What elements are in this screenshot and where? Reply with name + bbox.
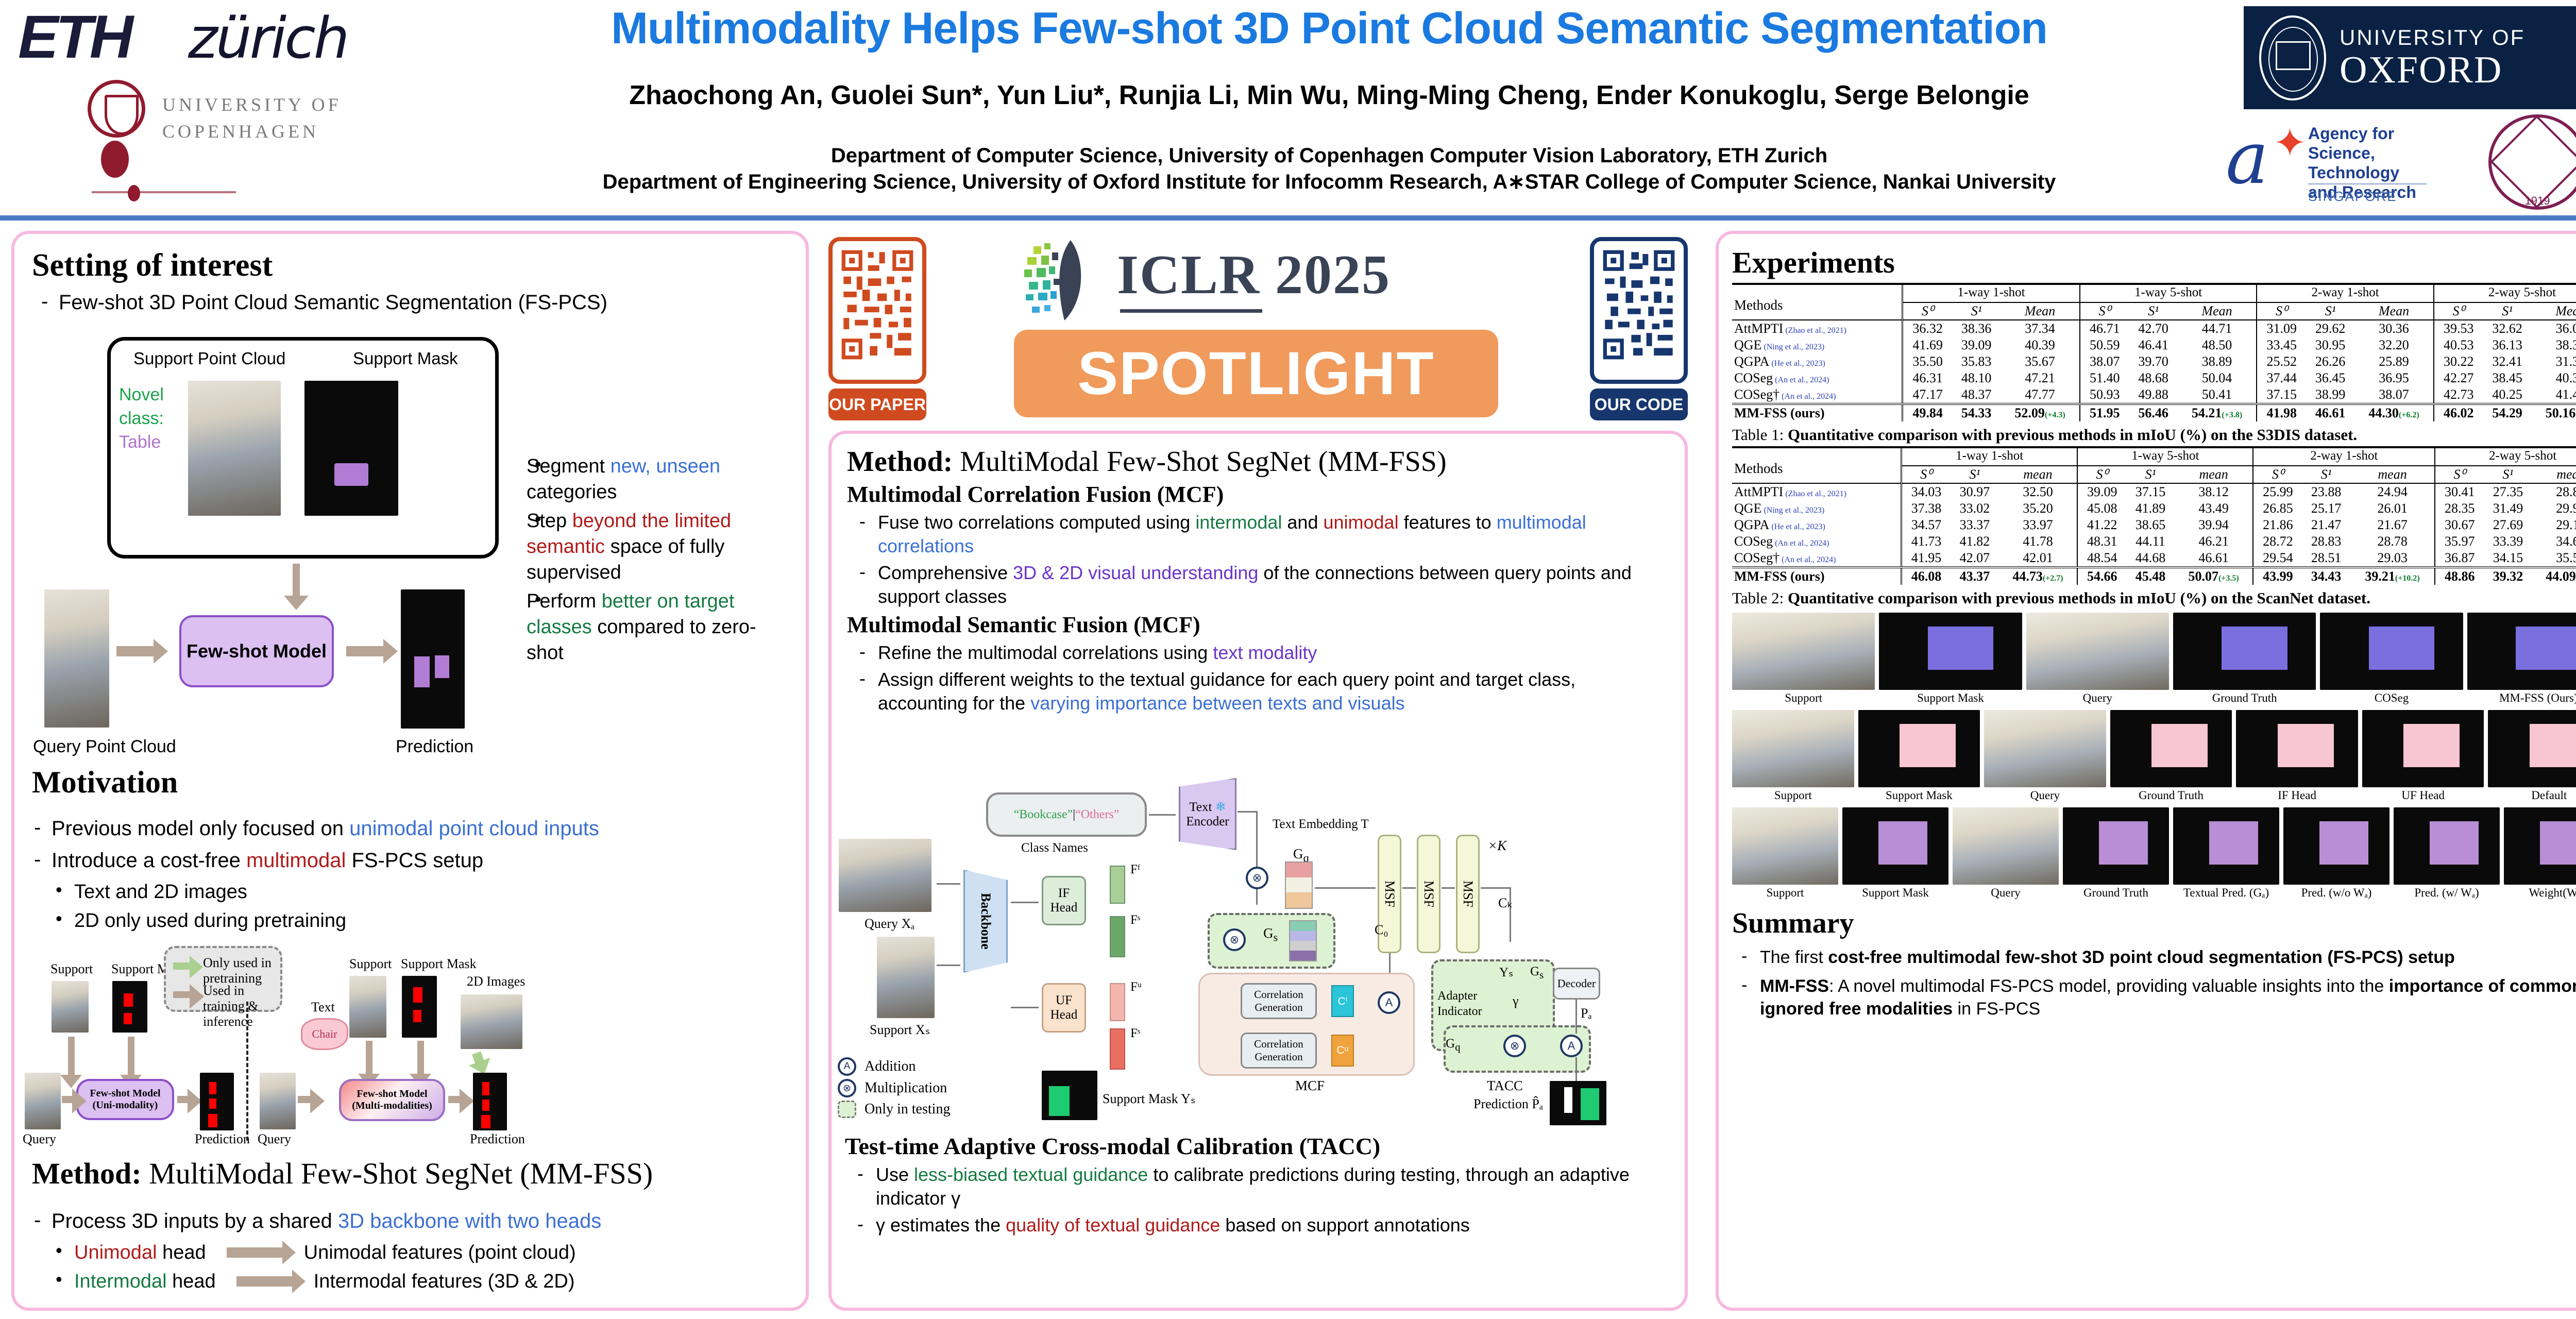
copenhagen-ornament-2 [128, 185, 140, 201]
uni-mask-arrow [128, 1037, 134, 1076]
uni-prediction-thumb [200, 1073, 234, 1130]
mcf-bullet-2: Comprehensive 3D & 2D visual understandi… [847, 561, 1669, 608]
msf-block-3: MSF [1456, 835, 1480, 953]
qualitative-cell: MM-FSS (Ours) [2467, 613, 2576, 705]
uf-head-box: UFHead [1042, 983, 1086, 1033]
section-title-method: Method: MultiModal Few-Shot SegNet (MM-F… [847, 445, 1669, 478]
conference-name: ICLR 2025 [1117, 243, 1391, 307]
copenhagen-logo: UNIVERSITY OF COPENHAGEN [88, 80, 417, 152]
feature-fq-unimodal [1110, 983, 1125, 1021]
qualitative-image [1732, 710, 1854, 787]
multiply-node-gs: ⊗ [1223, 928, 1246, 951]
ys-label: Yₛ [1499, 965, 1513, 980]
legend-pretrain-text: Only used in pretraining [203, 955, 280, 986]
feature-fq-i-label: Fᶠ [1130, 863, 1140, 877]
novel-class-l2: class: [119, 407, 164, 430]
qualitative-image [2283, 807, 2389, 885]
section-title-setting: Setting of interest [32, 247, 788, 284]
c0-label: C₀ [1375, 922, 1388, 938]
qr-code-repo[interactable] [1590, 237, 1688, 384]
qualitative-cell: Query [2026, 613, 2169, 705]
multi-pred-arrow [448, 1096, 461, 1103]
feature-fq-u-label: Fᵘ [1130, 980, 1142, 994]
page-title: Multimodality Helps Few-shot 3D Point Cl… [453, 3, 2205, 54]
qualitative-label: Support Mask [1842, 886, 1948, 900]
qualitative-label: MM-FSS (Ours) [2467, 691, 2576, 705]
qualitative-cell: Support [1732, 710, 1854, 802]
qualitative-label: COSeg [2320, 691, 2463, 705]
repeat-k-label: ×K [1488, 838, 1506, 854]
oxford-wordmark: UNIVERSITY OF OXFORD [2340, 25, 2525, 90]
astar-logo: a ✦ Agency for Science, Technology and R… [2226, 114, 2463, 207]
qualitative-label: IF Head [2236, 789, 2358, 802]
uni-query-label: Query [23, 1131, 56, 1147]
copenhagen-rule [92, 191, 236, 193]
mcf-subheading: Multimodal Correlation Fusion (MCF) [847, 481, 1669, 508]
tacc-bullet-1: Use less-biased textual guidance to cali… [845, 1163, 1669, 1210]
qualitative-label: Pred. (w/o Wₐ) [2283, 886, 2389, 900]
eth-zurich-logo: ETH zürich [18, 5, 456, 67]
legend-only-testing: Only in testing [838, 1101, 950, 1118]
images-2d-label: 2D Images [467, 974, 525, 989]
decoder-box: Decoder [1553, 968, 1600, 1000]
section-title-summary: Summary [1732, 907, 2576, 940]
qualitative-cell: UF Head [2362, 710, 2484, 802]
motivation-bullet-1: Previous model only focused on unimodal … [25, 815, 736, 842]
summary-bullet-1: The first cost-free multimodal few-shot … [1732, 946, 2576, 969]
qualitative-image [1858, 710, 1980, 787]
poster-header: ETH zürich UNIVERSITY OF COPENHAGEN Mult… [0, 0, 2576, 227]
qualitative-image [1984, 710, 2106, 787]
qualitative-label: UF Head [2362, 789, 2484, 802]
text-modality-label: Text [311, 1000, 335, 1015]
legend-addition: A Addition [838, 1057, 950, 1076]
qualitative-cell: COSeg [2320, 613, 2463, 705]
novel-class-value: Table [119, 430, 164, 454]
only-testing-icon [838, 1101, 856, 1118]
multi-query-label: Query [258, 1131, 291, 1147]
text-embedding-label: Text Embedding T [1273, 817, 1369, 832]
qualitative-cell: Query [1984, 710, 2106, 802]
prediction-thumbnail [401, 589, 465, 729]
astar-star-icon: ✦ [2273, 120, 2307, 166]
qualitative-label: Support Mask [1879, 691, 2022, 705]
gq-input-label: Gq [1446, 1037, 1460, 1054]
qualitative-label: Support [1732, 691, 1875, 705]
results-table-2: Methods1-way 1-shot1-way 5-shot2-way 1-s… [1732, 446, 2576, 585]
multiplication-icon: ⊗ [838, 1079, 856, 1097]
correlation-cu-block: Cᵘ [1331, 1035, 1354, 1067]
author-list: Zhaochong An, Guolei Sun*, Yun Liu*, Run… [453, 80, 2205, 111]
arch-support-mask-thumb [1042, 1071, 1097, 1120]
qualitative-cell: Support Mask [1858, 710, 1980, 802]
oxford-line-1: UNIVERSITY OF [2340, 25, 2525, 50]
uni-support-thumb [52, 981, 89, 1033]
arch-prediction-label: Prediction P̂ₐ [1473, 1096, 1543, 1112]
qualitative-cell: Pred. (w/o Wₐ) [2283, 807, 2389, 900]
arch-legend: A Addition ⊗ Multiplication Only in test… [838, 1057, 950, 1118]
qualitative-image [2362, 710, 2484, 787]
method-left-row-2: Intermodal head Intermodal features (3D … [25, 1269, 756, 1294]
images-2d-thumb [461, 994, 522, 1049]
motivation-bullet-2: Introduce a cost-free multimodal FS-PCS … [25, 847, 736, 874]
multiply-node-gq: ⊗ [1246, 867, 1268, 889]
astar-divider [2308, 183, 2427, 184]
qualitative-label: Support Mask [1858, 789, 1980, 802]
backbone-box: Backbone [963, 870, 1008, 973]
qualitative-image [1732, 613, 1875, 690]
qualitative-label: Query [1984, 789, 2106, 802]
feature-fs-intermodal [1110, 916, 1125, 957]
qr-paper-pattern-icon [840, 248, 915, 361]
side-bullet-3: Perform better on target classes compare… [504, 588, 772, 666]
uni-support-mask-thumb [112, 981, 147, 1033]
section-title-method-left: Method: MultiModal Few-Shot SegNet (MM-F… [32, 1156, 653, 1191]
right-column-panel: Experiments Methods1-way 1-shot1-way 5-s… [1716, 231, 2576, 1311]
addition-node-mcf: A [1378, 991, 1400, 1014]
table-1-caption: Table 1: Quantitative comparison with pr… [1732, 426, 2576, 444]
if-head-box: IFHead [1042, 876, 1086, 925]
few-shot-model-box: Few-shot Model [179, 615, 334, 687]
astar-country: SINGAPORE [2308, 189, 2397, 205]
multi-prediction-label: Prediction [470, 1131, 525, 1147]
qualitative-cell: Textual Pred. (Gₐ) [2173, 807, 2279, 900]
qualitative-cell: Weight(Wₐ) [2504, 807, 2576, 900]
qualitative-image [2173, 807, 2279, 885]
copenhagen-line-1: UNIVERSITY OF [162, 91, 342, 118]
tacc-label: TACC [1487, 1078, 1523, 1094]
summary-bullet-2: MM-FSS: A novel multimodal FS-PCS model,… [1732, 975, 2576, 1020]
tacc-text-block: Test-time Adaptive Cross-modal Calibrati… [845, 1129, 1669, 1240]
copenhagen-line-2: COPENHAGEN [162, 118, 342, 145]
qualitative-image [2063, 807, 2169, 885]
table-2-caption: Table 2: Quantitative comparison with pr… [1732, 589, 2576, 607]
msf-block-2: MSF [1417, 835, 1440, 953]
qualitative-cell: Query [1953, 807, 2059, 900]
setting-figure-box: Support Point Cloud Support Mask Novel c… [107, 337, 499, 559]
copenhagen-wordmark: UNIVERSITY OF COPENHAGEN [162, 91, 342, 145]
gs-input-label: Gs [1530, 965, 1544, 982]
support-mask-region [334, 463, 368, 486]
ck-label: Cₖ [1498, 895, 1513, 911]
multi-query-arrow [298, 1096, 311, 1103]
qualitative-image [2488, 710, 2576, 787]
setting-flow-arrow-down [293, 564, 300, 598]
qualitative-label: Ground Truth [2173, 691, 2316, 705]
qr-paper-label[interactable]: OUR PAPER [828, 388, 926, 420]
qualitative-cell: Ground Truth [2110, 710, 2232, 802]
motivation-diagram: Support Support Mask Only used in pretra… [20, 924, 777, 1141]
class-names-label: Class Names [1021, 841, 1088, 855]
setting-side-bullets: Segment new, unseen categories Step beyo… [504, 450, 772, 669]
gq-block [1285, 861, 1313, 909]
addition-node-tacc: A [1560, 1035, 1583, 1057]
qualitative-row-1: SupportSupport MaskQueryGround TruthCOSe… [1732, 613, 2576, 705]
astar-a-glyph-icon: a [2226, 128, 2268, 190]
multi-support-mask-label: Support Mask [401, 956, 477, 972]
qualitative-image [1842, 807, 1948, 885]
nankai-logo: 1919 [2488, 114, 2576, 210]
method-left-row-1: Unimodal head Unimodal features (point c… [25, 1240, 756, 1265]
section-title-experiments: Experiments [1732, 245, 2576, 280]
model-to-prediction-arrow [346, 646, 384, 656]
uni-query-thumb [25, 1073, 61, 1129]
qualitative-cell: Support Mask [1842, 807, 1948, 900]
diagram-divider [246, 1002, 248, 1141]
multi-support-arrow [366, 1041, 372, 1075]
multi-support-label: Support [349, 956, 392, 972]
affiliation-line-2: Department of Engineering Science, Unive… [453, 170, 2205, 194]
qualitative-cell: Default [2488, 710, 2576, 802]
multi-mask-arrow [417, 1041, 424, 1075]
qualitative-image [1732, 807, 1838, 885]
frozen-snowflake-icon: ❄ [1215, 800, 1226, 814]
qualitative-image [2236, 710, 2358, 787]
astar-line-2: Science, Technology [2308, 143, 2463, 182]
support-pointcloud-thumbnail [188, 381, 281, 516]
qualitative-row-3: SupportSupport MaskQueryGround TruthText… [1732, 807, 2576, 900]
qualitative-image [2504, 807, 2576, 885]
qualitative-label: Ground Truth [2063, 886, 2169, 900]
arch-query-label: Query Xₐ [865, 916, 914, 932]
support-mask-label: Support Mask [353, 349, 458, 368]
qualitative-image [2394, 807, 2500, 885]
correlation-generation-box-2: CorrelationGeneration [1241, 1033, 1317, 1069]
tacc-bullet-2: γ estimates the quality of textual guida… [845, 1213, 1669, 1237]
qualitative-label: Pred. (w/ Wₐ) [2394, 886, 2500, 900]
novel-class-l1: Novel [119, 383, 164, 407]
qualitative-image [2467, 613, 2576, 690]
method-arrow-1-icon [227, 1247, 283, 1258]
qualitative-label: Query [1953, 886, 2059, 900]
eth-logo-main: ETH [18, 2, 130, 72]
multi-support-mask-thumb [402, 976, 437, 1038]
text-class-bubble: Chair [301, 1018, 348, 1050]
legend-train-text: Used in training & inference [203, 983, 281, 1029]
qualitative-label: Default [2488, 789, 2576, 802]
qualitative-label: Weight(Wₐ) [2504, 886, 2576, 900]
multi-query-thumb [260, 1073, 296, 1129]
arch-support-label: Support Xₛ [870, 1022, 930, 1038]
qualitative-label: Textual Pred. (Gₐ) [2173, 886, 2279, 900]
qualitative-cell: Ground Truth [2173, 613, 2316, 705]
setting-bullet-1: Few-shot 3D Point Cloud Semantic Segment… [32, 289, 788, 316]
qr-code-pattern-icon [1601, 248, 1676, 361]
legend-box: Only used in pretraining Used in trainin… [164, 946, 282, 1012]
qr-code-paper[interactable] [828, 237, 926, 384]
feature-fs-i-label: Fˢ [1130, 913, 1140, 927]
multi-prediction-thumb [473, 1073, 507, 1130]
uni-query-arrow [62, 1096, 73, 1103]
motivation-subbullet-1: Text and 2D images [25, 879, 736, 905]
astar-line-1: Agency for [2308, 124, 2463, 143]
feature-fq-intermodal [1110, 866, 1125, 904]
uni-support-arrow [68, 1037, 75, 1076]
method-arrow-2-icon [236, 1276, 293, 1287]
affiliation-line-1: Department of Computer Science, Universi… [453, 144, 2205, 167]
correlation-generation-box-1: CorrelationGeneration [1241, 983, 1317, 1019]
nankai-year: 1919 [2492, 194, 2576, 208]
qualitative-label: Support [1732, 789, 1854, 802]
arch-support-thumb [877, 937, 935, 1018]
qualitative-image [1879, 613, 2022, 690]
oxford-line-2: OXFORD [2340, 50, 2525, 90]
method-left-bullet: Process 3D inputs by a shared 3D backbon… [25, 1208, 756, 1235]
query-pointcloud-label: Query Point Cloud [33, 737, 176, 757]
pq-label: Pₐ [1581, 1006, 1592, 1021]
qualitative-cell: Support Mask [1879, 613, 2022, 705]
msf-bullet-1: Refine the multimodal correlations using… [847, 641, 1669, 665]
multi-support-thumb [349, 976, 386, 1038]
arch-prediction-thumb [1550, 1081, 1606, 1125]
side-bullet-2: Step beyond the limited semantic space o… [504, 508, 772, 585]
legend-train-arrow-icon [173, 991, 191, 998]
qualitative-label: Ground Truth [2110, 789, 2232, 802]
qualitative-cell: Pred. (w/ Wₐ) [2394, 807, 2500, 900]
few-shot-model-unimodal: Few-shot Model (Uni-modality) [76, 1079, 174, 1120]
few-shot-model-multimodal: Few-shot Model (Multi-modalities) [339, 1079, 445, 1121]
text-encoder-box: Text ❄ Encoder [1179, 778, 1236, 850]
header-divider [0, 215, 2576, 221]
feature-fs-u-label: Fˢ [1130, 1026, 1140, 1041]
uni-pred-arrow [177, 1096, 189, 1103]
eth-logo-sub: zürich [188, 5, 347, 71]
qr-code-label[interactable]: OUR CODE [1590, 388, 1688, 420]
uni-prediction-label: Prediction [195, 1131, 250, 1147]
gs-label: Gs [1263, 925, 1278, 944]
qualitative-image [2026, 613, 2169, 690]
prediction-label: Prediction [396, 737, 473, 757]
gamma-label: γ [1513, 993, 1519, 1009]
qualitative-cell: IF Head [2236, 710, 2358, 802]
feature-fs-unimodal [1110, 1028, 1125, 1070]
novel-class-caption: Novel class: Table [119, 383, 164, 454]
msf-bullet-2: Assign different weights to the textual … [847, 668, 1669, 715]
architecture-diagram: “Bookcase” | “Others” Class Names Text ❄… [836, 773, 1681, 1123]
addition-icon: A [838, 1057, 856, 1076]
qualitative-cell: Support [1732, 807, 1838, 900]
support-mask-thumbnail [304, 381, 398, 516]
copenhagen-seal-icon [88, 80, 145, 138]
side-bullet-1: Segment new, unseen categories [504, 453, 772, 505]
conference-banner: OUR PAPER ICLR 2025 SPOTLIGHT [828, 233, 1688, 427]
query-to-model-arrow [116, 646, 155, 656]
adapter-indicator-label: AdapterIndicator [1437, 988, 1482, 1019]
legend-multiplication: ⊗ Multiplication [838, 1079, 950, 1097]
arch-support-mask-label: Support Mask Yₛ [1103, 1091, 1196, 1107]
oxford-logo: UNIVERSITY OF OXFORD [2244, 6, 2576, 109]
correlation-ci-block: Cⁱ [1331, 985, 1354, 1017]
award-badge: SPOTLIGHT [1014, 330, 1498, 417]
oxford-crest-icon [2259, 15, 2326, 100]
conference-underline [1120, 309, 1262, 313]
iclr-logo-icon [1015, 237, 1108, 324]
left-column-panel: Setting of interest Few-shot 3D Point Cl… [11, 231, 809, 1311]
copenhagen-ornament-1 [101, 141, 129, 178]
arch-query-thumb [839, 839, 931, 912]
qualitative-image [1953, 807, 2059, 885]
classnames-to-encoder-line [1149, 814, 1176, 816]
qualitative-cell: Support [1732, 613, 1875, 705]
mcf-bullet-1: Fuse two correlations computed using int… [847, 511, 1669, 558]
mcf-label: MCF [1295, 1078, 1325, 1094]
support-pointcloud-label: Support Point Cloud [133, 349, 285, 368]
msf-subheading: Multimodal Semantic Fusion (MCF) [847, 612, 1669, 638]
qualitative-image [2173, 613, 2316, 690]
qualitative-row-2: SupportSupport MaskQueryGround TruthIF H… [1732, 710, 2576, 802]
section-title-motivation: Motivation [32, 765, 178, 800]
class-names-bubble: “Bookcase” | “Others” [986, 792, 1147, 837]
qualitative-image [2320, 613, 2463, 690]
legend-pretrain-arrow-icon [173, 962, 191, 970]
results-table-1: Methods1-way 1-shot1-way 5-shot2-way 1-s… [1732, 283, 2576, 421]
uni-support-label: Support [50, 961, 93, 977]
qualitative-image [2110, 710, 2232, 787]
query-pointcloud-thumbnail [44, 589, 109, 728]
multiply-node-tacc: ⊗ [1503, 1035, 1526, 1057]
tacc-subheading: Test-time Adaptive Cross-modal Calibrati… [845, 1132, 1669, 1160]
images-2d-arrow [472, 1052, 484, 1064]
qualitative-label: Query [2026, 691, 2169, 705]
gs-block [1289, 920, 1317, 961]
qualitative-cell: Ground Truth [2063, 807, 2169, 900]
qualitative-label: Support [1732, 886, 1838, 900]
